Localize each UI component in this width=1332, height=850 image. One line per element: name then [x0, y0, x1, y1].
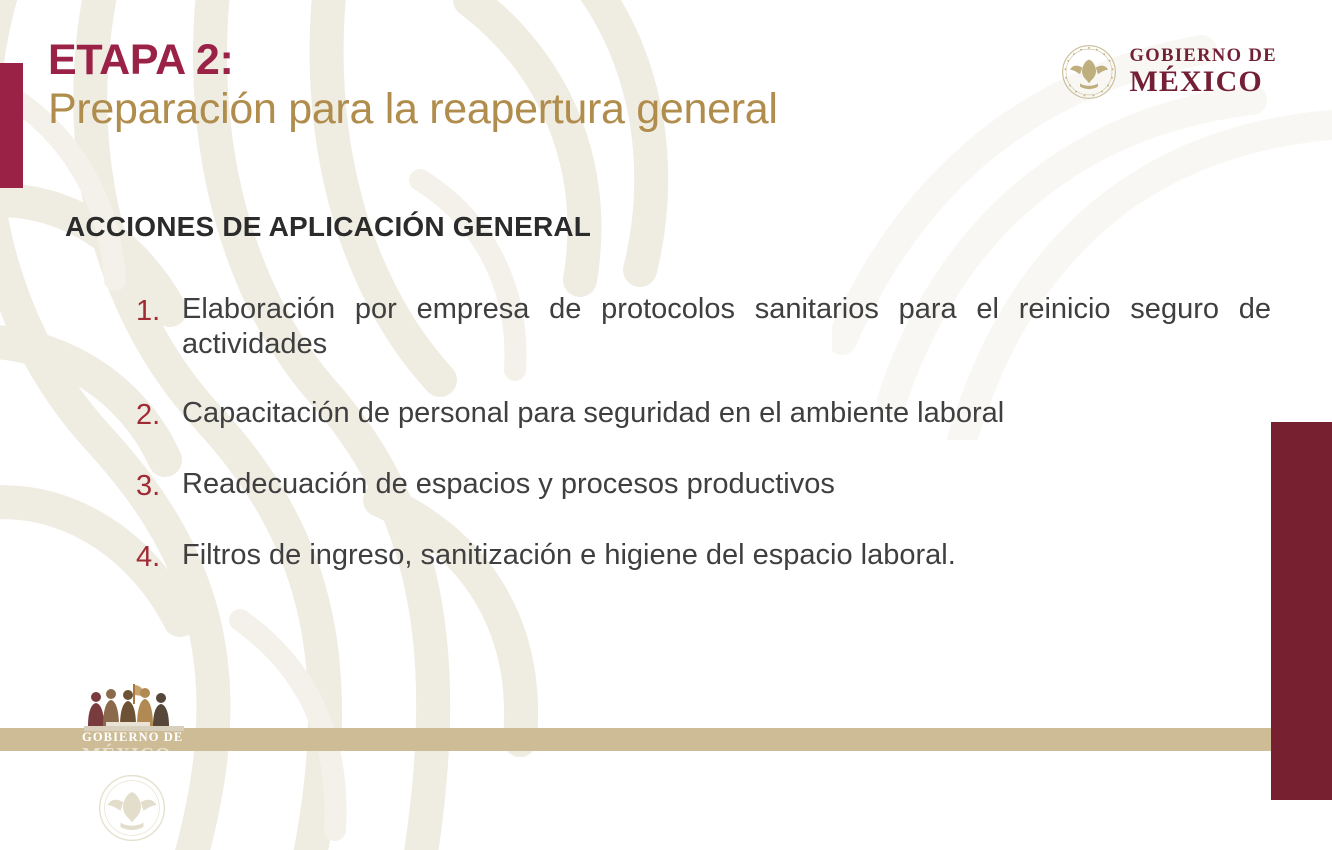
slide-title-stage: ETAPA 2:	[48, 38, 778, 83]
independence-heroes-icon	[82, 682, 188, 734]
list-item-number: 1.	[136, 292, 182, 330]
gobierno-de-mexico-wordmark: GOBIERNO DE MÉXICO	[1130, 47, 1278, 97]
footer-gold-bar	[0, 728, 1271, 751]
list-item-number: 2.	[136, 396, 182, 434]
list-item: 3. Readecuación de espacios y procesos p…	[136, 467, 1271, 505]
mexico-eagle-seal-icon	[1061, 44, 1117, 100]
logo-line-gobierno: GOBIERNO DE	[1130, 47, 1278, 66]
footer-gobierno-wordmark: GOBIERNO DE MÉXICO	[82, 731, 183, 766]
slide-title-subtitle: Preparación para la reapertura general	[48, 85, 778, 133]
actions-list: 1. Elaboración por empresa de protocolos…	[136, 292, 1271, 577]
list-item-text: Filtros de ingreso, sanitización e higie…	[182, 538, 1271, 573]
right-accent-block	[1271, 422, 1332, 800]
logo-line-mexico: MÉXICO	[1130, 67, 1278, 97]
list-item: 2. Capacitación de personal para segurid…	[136, 396, 1271, 434]
list-item-text: Readecuación de espacios y procesos prod…	[182, 467, 1271, 502]
list-item-number: 4.	[136, 538, 182, 576]
section-heading: ACCIONES DE APLICACIÓN GENERAL	[65, 211, 591, 243]
list-item: 1. Elaboración por empresa de protocolos…	[136, 292, 1271, 363]
gobierno-de-mexico-logo: GOBIERNO DE MÉXICO	[1061, 44, 1278, 100]
left-accent-bar	[0, 63, 23, 188]
footer-mexico-eagle-seal-icon	[96, 772, 168, 844]
footer-line-mexico: MÉXICO	[82, 745, 183, 767]
list-item-text: Elaboración por empresa de protocolos sa…	[182, 292, 1271, 363]
list-item-text: Capacitación de personal para seguridad …	[182, 396, 1271, 431]
slide-etapa-2: ETAPA 2: Preparación para la reapertura …	[0, 0, 1332, 850]
list-item: 4. Filtros de ingreso, sanitización e hi…	[136, 538, 1271, 576]
slide-title-block: ETAPA 2: Preparación para la reapertura …	[48, 38, 778, 133]
list-item-number: 3.	[136, 467, 182, 505]
footer-line-gobierno: GOBIERNO DE	[82, 731, 183, 745]
